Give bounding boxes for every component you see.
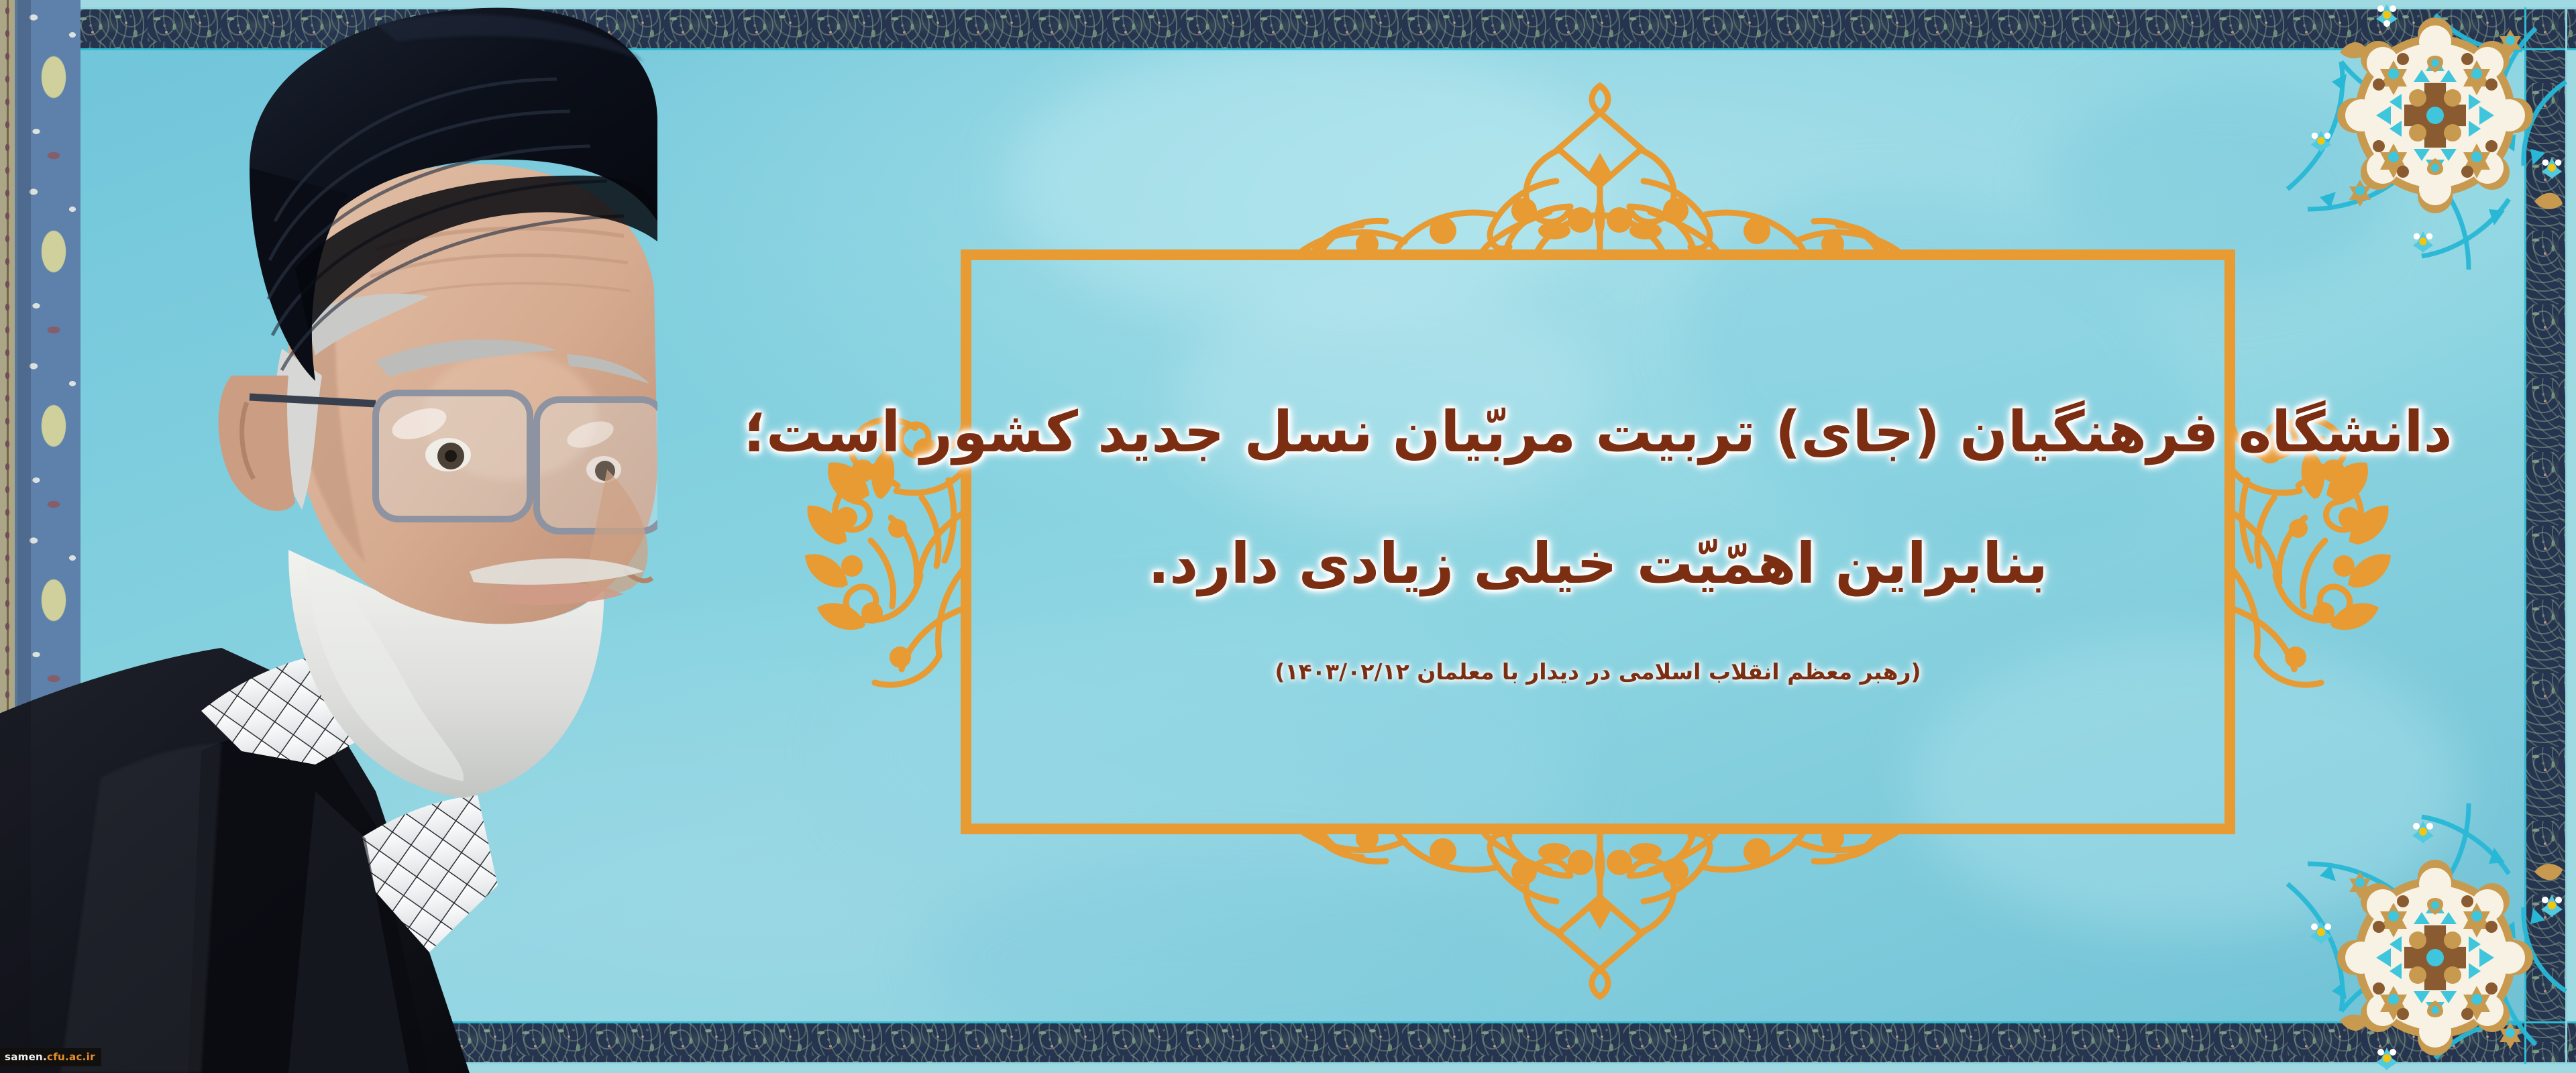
vine-leaf-band-bottom bbox=[0, 1023, 2576, 1062]
hairline-divider bbox=[0, 7, 2576, 9]
outer-edge-strip bbox=[2567, 0, 2576, 1073]
persian-carpet-strip bbox=[0, 0, 80, 1073]
outer-edge-strip bbox=[0, 1064, 2576, 1073]
banner-canvas: دانشگاه فرهنگیان (جای) تربیت مربّیان نسل… bbox=[0, 0, 2576, 1073]
hairline-divider bbox=[2565, 7, 2567, 1064]
hairline-divider bbox=[0, 1021, 2576, 1023]
vine-leaf-band-right bbox=[2526, 9, 2565, 1062]
hairline-divider bbox=[0, 1062, 2576, 1064]
quote-line-2: بنابراین اهمّیّت خیلی زیادی دارد. bbox=[1148, 530, 2048, 597]
watermark: samen.cfu.ac.ir bbox=[0, 1048, 101, 1066]
outer-edge-strip bbox=[0, 0, 2576, 7]
carpet-motif-column bbox=[16, 0, 80, 1073]
watermark-domain: cfu.ac.ir bbox=[47, 1051, 95, 1063]
quote-block: دانشگاه فرهنگیان (جای) تربیت مربّیان نسل… bbox=[986, 268, 2210, 815]
hairline-divider bbox=[2524, 7, 2526, 1064]
quote-line-1: دانشگاه فرهنگیان (جای) تربیت مربّیان نسل… bbox=[743, 399, 2452, 465]
watermark-site-name: samen. bbox=[5, 1051, 47, 1063]
vine-leaf-band-top bbox=[0, 9, 2576, 48]
carpet-dot-column bbox=[0, 0, 15, 1073]
quote-attribution: (رهبر معظم انقلاب اسلامی در دیدار با معل… bbox=[1275, 659, 1921, 685]
hairline-divider bbox=[0, 48, 2576, 50]
